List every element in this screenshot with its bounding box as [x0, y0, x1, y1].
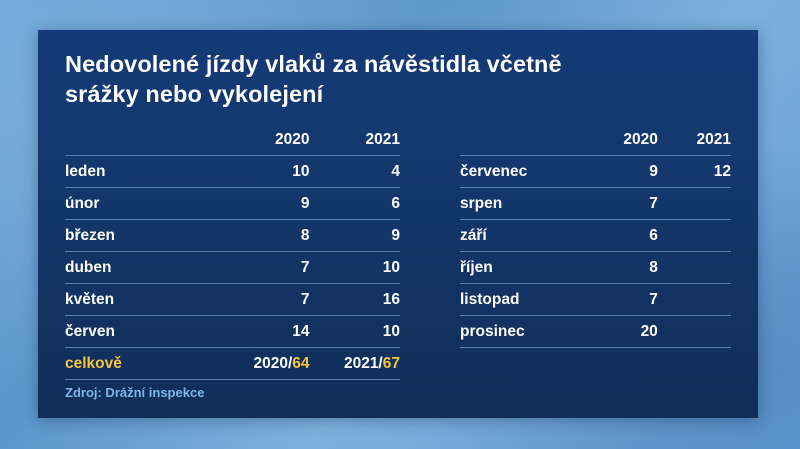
cell-2020: 9: [219, 188, 309, 220]
cell-2020: 20: [585, 316, 658, 348]
total-2020-value: 64: [292, 355, 309, 372]
column-header-month: [460, 125, 585, 156]
cell-2021: 6: [310, 188, 400, 220]
page-title: Nedovolené jízdy vlaků za návěstidla vče…: [65, 50, 715, 109]
table-body: červenec 9 12 srpen 7 září 6: [460, 156, 731, 348]
cell-2021: 4: [310, 156, 400, 188]
table-row: srpen 7: [460, 188, 731, 220]
total-2020-prefix: 2020/: [253, 355, 292, 372]
row-label: říjen: [460, 252, 585, 284]
source-note: Zdroj: Drážní inspekce: [65, 385, 204, 400]
row-label: květen: [65, 284, 219, 316]
table-row: září 6: [460, 220, 731, 252]
cell-2021: 10: [310, 316, 400, 348]
table-row: říjen 8: [460, 252, 731, 284]
table-row: březen 8 9: [65, 220, 400, 252]
table-header: 2020 2021: [65, 125, 400, 156]
cell-2020: 8: [585, 252, 658, 284]
page-title-line-2: srážky nebo vykolejení: [65, 80, 715, 110]
table-header-row: 2020 2021: [460, 125, 731, 156]
cell-2021: [658, 316, 731, 348]
cell-2020: 7: [219, 284, 309, 316]
table-header-row: 2020 2021: [65, 125, 400, 156]
total-label: celkově: [65, 348, 219, 380]
column-header-2021: 2021: [310, 125, 400, 156]
column-header-2020: 2020: [219, 125, 309, 156]
cell-2020: 7: [219, 252, 309, 284]
row-label: březen: [65, 220, 219, 252]
cell-2021: 12: [658, 156, 731, 188]
cell-2021: 10: [310, 252, 400, 284]
cell-2021: [658, 220, 731, 252]
months-table-first-half: 2020 2021 leden 10 4 únor 9: [65, 125, 400, 380]
column-header-month: [65, 125, 219, 156]
cell-2020: 7: [585, 284, 658, 316]
row-label: únor: [65, 188, 219, 220]
cell-2021: [658, 252, 731, 284]
cell-2021: 9: [310, 220, 400, 252]
row-label: listopad: [460, 284, 585, 316]
row-label: září: [460, 220, 585, 252]
table-row: květen 7 16: [65, 284, 400, 316]
cell-2021: 16: [310, 284, 400, 316]
tables-container: 2020 2021 leden 10 4 únor 9: [38, 125, 758, 380]
cell-2021: [658, 188, 731, 220]
total-2020: 2020/64: [219, 348, 309, 380]
row-label: červenec: [460, 156, 585, 188]
row-label: prosinec: [460, 316, 585, 348]
table-body: leden 10 4 únor 9 6 březen 8 9: [65, 156, 400, 380]
left-table-wrapper: 2020 2021 leden 10 4 únor 9: [38, 125, 418, 380]
total-2021: 2021/67: [310, 348, 400, 380]
right-table-wrapper: 2020 2021 červenec 9 12 srpen 7: [418, 125, 758, 380]
table-row: únor 9 6: [65, 188, 400, 220]
page-title-line-1: Nedovolené jízdy vlaků za návěstidla vče…: [65, 50, 715, 80]
table-row: duben 7 10: [65, 252, 400, 284]
cell-2020: 9: [585, 156, 658, 188]
table-row: červenec 9 12: [460, 156, 731, 188]
table-row: červen 14 10: [65, 316, 400, 348]
screenshot-stage: Nedovolené jízdy vlaků za návěstidla vče…: [0, 0, 800, 449]
row-label: srpen: [460, 188, 585, 220]
column-header-2020: 2020: [585, 125, 658, 156]
cell-2020: 8: [219, 220, 309, 252]
total-2021-prefix: 2021/: [344, 355, 383, 372]
row-label: červen: [65, 316, 219, 348]
cell-2020: 7: [585, 188, 658, 220]
table-row: leden 10 4: [65, 156, 400, 188]
column-header-2021: 2021: [658, 125, 731, 156]
table-row: prosinec 20: [460, 316, 731, 348]
cell-2020: 10: [219, 156, 309, 188]
table-header: 2020 2021: [460, 125, 731, 156]
total-2021-value: 67: [383, 355, 400, 372]
table-total-row: celkově 2020/64 2021/67: [65, 348, 400, 380]
statistics-panel: Nedovolené jízdy vlaků za návěstidla vče…: [38, 30, 758, 418]
months-table-second-half: 2020 2021 červenec 9 12 srpen 7: [460, 125, 731, 348]
row-label: leden: [65, 156, 219, 188]
row-label: duben: [65, 252, 219, 284]
cell-2020: 6: [585, 220, 658, 252]
cell-2021: [658, 284, 731, 316]
cell-2020: 14: [219, 316, 309, 348]
table-row: listopad 7: [460, 284, 731, 316]
